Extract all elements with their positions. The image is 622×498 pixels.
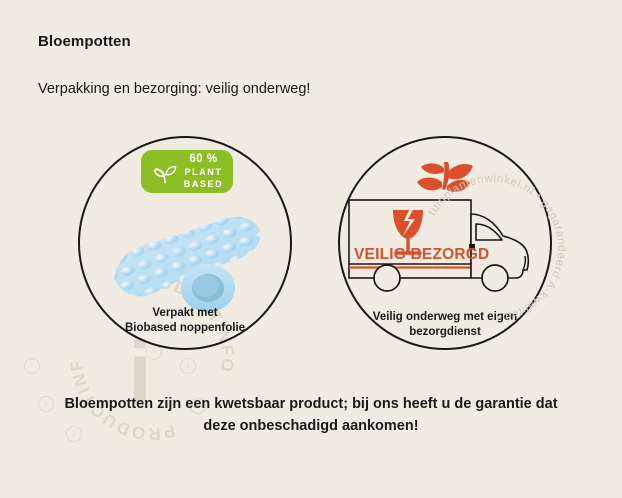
footer-text: Bloempotten zijn een kwetsbaar product; … <box>30 393 592 437</box>
page-title: Bloempotten <box>38 33 131 50</box>
caption-delivery-line1: Veilig onderweg met eigen <box>340 310 550 325</box>
delivery-truck-illustration: VEILIG BEZORGD <box>345 156 545 306</box>
sprout-icon <box>151 158 179 186</box>
caption-packaging: Verpakt met Biobased noppenfolie <box>80 306 290 336</box>
footer-line1: Bloempotten zijn een kwetsbaar product; … <box>30 393 592 415</box>
badge-line2: BASED <box>184 180 224 189</box>
watermark-dot: i <box>180 358 196 374</box>
badge-text-block: 60 % PLANT BASED <box>184 154 224 189</box>
caption-packaging-line2: Biobased noppenfolie <box>80 321 290 336</box>
orange-leaf-icon <box>417 162 473 192</box>
caption-delivery: Veilig onderweg met eigen bezorgdienst <box>340 310 550 340</box>
plant-based-badge: 60 % PLANT BASED <box>141 150 233 193</box>
watermark-dot: i <box>24 358 40 374</box>
page-subtitle: Verpakking en bezorging: veilig onderweg… <box>38 81 310 97</box>
caption-packaging-line1: Verpakt met <box>80 306 290 321</box>
panel-packaging: 60 % PLANT BASED <box>78 136 292 350</box>
badge-percent: 60 % <box>184 154 224 166</box>
bubble-wrap-illustration <box>100 200 275 315</box>
infographic-page: i i i i i i PRODUCTINFO PRODUCTINFO i Bl… <box>0 0 622 498</box>
badge-line1: PLANT <box>184 168 224 177</box>
panel-delivery: tuinplantenwinkel.nl • gegarandeerd A-kw… <box>338 136 552 350</box>
caption-delivery-line2: bezorgdienst <box>340 325 550 340</box>
footer-line2: deze onbeschadigd aankomen! <box>30 415 592 437</box>
svg-text:VEILIG BEZORGD: VEILIG BEZORGD <box>354 246 489 263</box>
